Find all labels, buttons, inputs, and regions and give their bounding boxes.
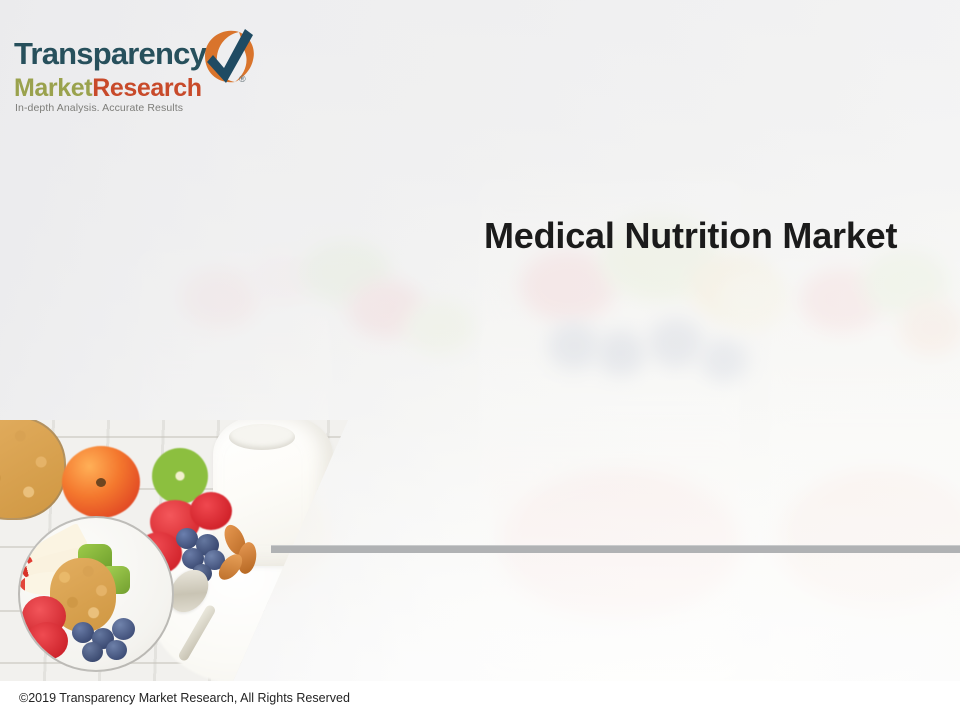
logo-secondary-words: MarketResearch	[14, 74, 202, 103]
page-title: Medical Nutrition Market	[484, 215, 897, 257]
brand-logo: Transparency MarketResearch In-depth Ana…	[10, 22, 272, 122]
accent-bar	[271, 546, 960, 553]
check-swoosh-icon	[201, 26, 261, 92]
logo-word-market: Market	[14, 74, 92, 102]
registered-trademark-symbol: ®	[239, 74, 246, 84]
footer-copyright: ©2019 Transparency Market Research, All …	[19, 691, 350, 705]
logo-primary-word: Transparency	[14, 36, 206, 72]
slide-canvas: Transparency MarketResearch In-depth Ana…	[0, 0, 960, 720]
logo-tagline: In-depth Analysis. Accurate Results	[15, 102, 183, 114]
logo-word-research: Research	[92, 74, 201, 102]
